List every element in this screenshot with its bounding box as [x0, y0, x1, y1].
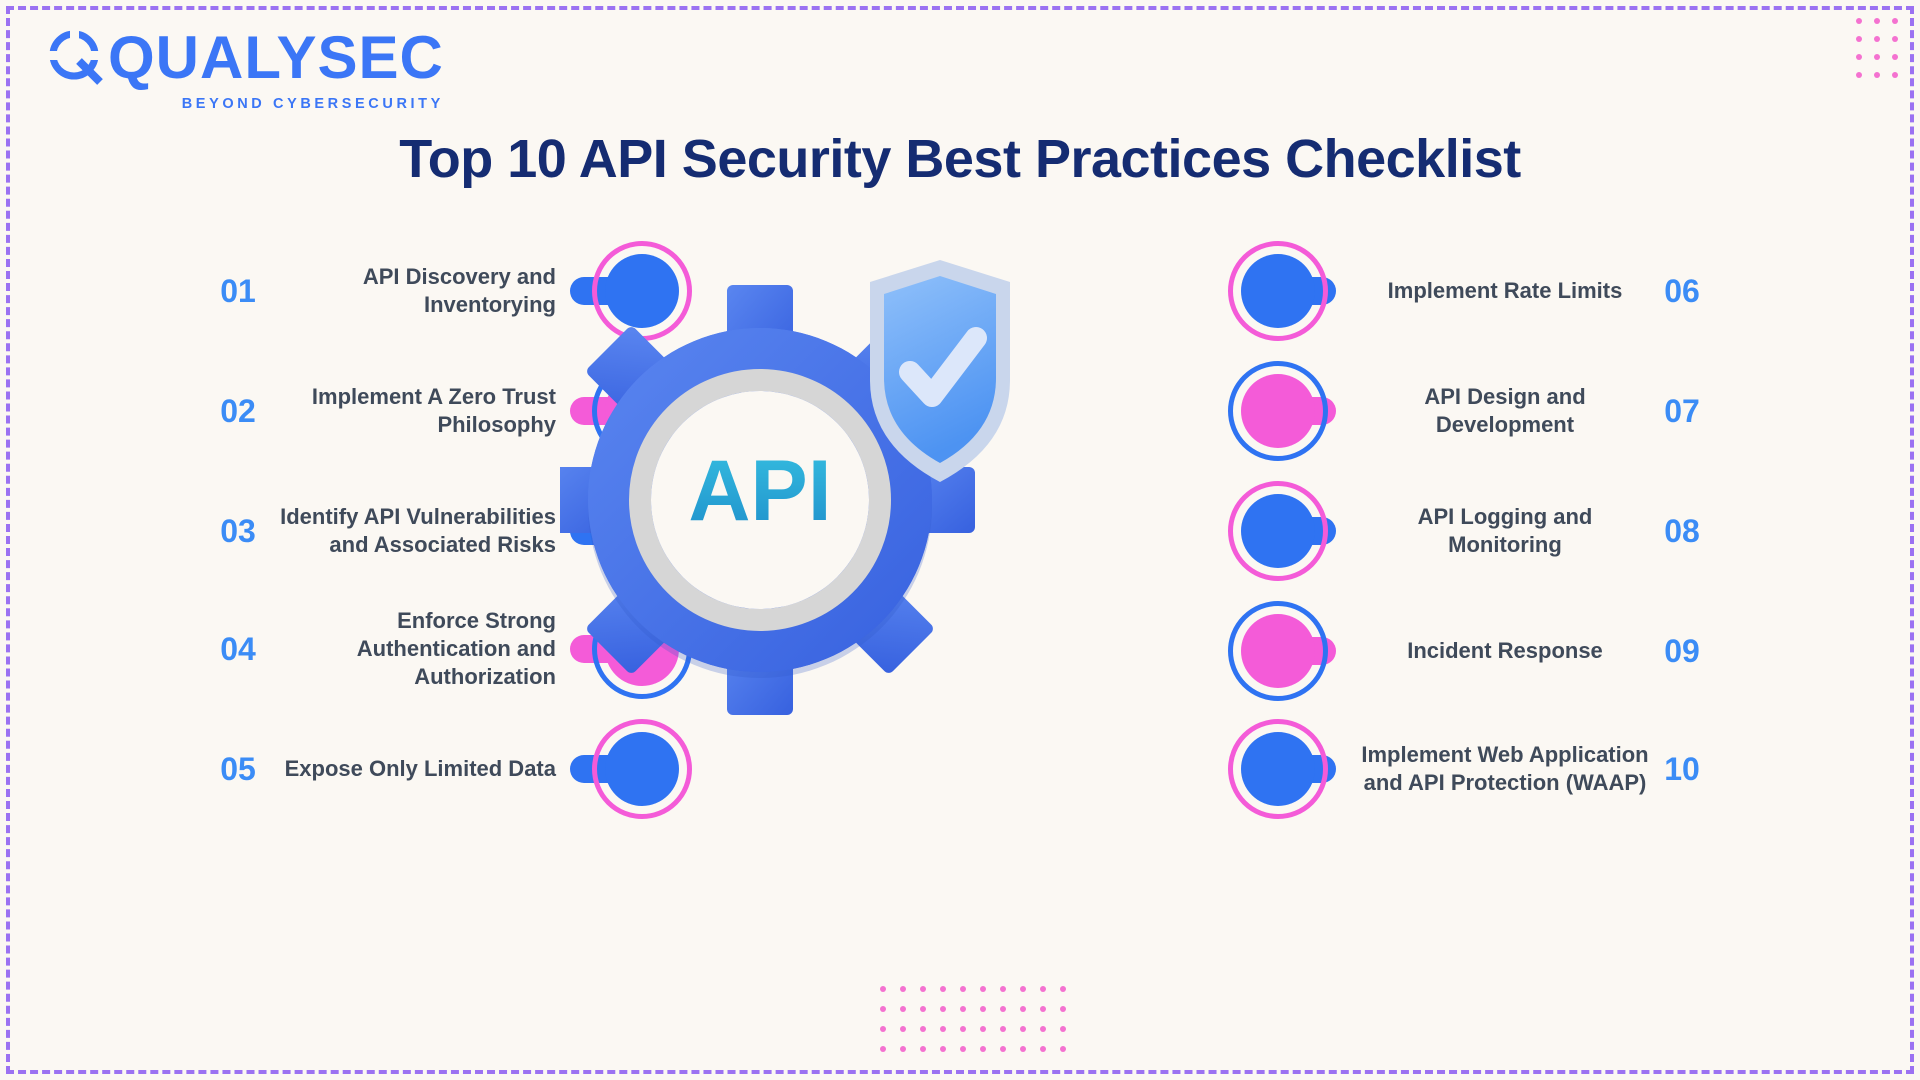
checklist-item-09[interactable]: Incident Response 09 — [1220, 596, 1900, 706]
item-number: 03 — [206, 513, 270, 550]
item-marker-pink — [1220, 596, 1350, 706]
checklist-item-10[interactable]: Implement Web Application and API Protec… — [1220, 714, 1900, 824]
item-label: Incident Response — [1350, 637, 1650, 665]
item-number: 06 — [1650, 273, 1714, 310]
item-label: API Discovery and Inventorying — [270, 263, 570, 319]
item-number: 05 — [206, 751, 270, 788]
gear-shield-illustration: API — [560, 220, 1020, 720]
item-number: 10 — [1650, 751, 1714, 788]
center-graphic: API — [560, 220, 1020, 720]
marker-dot — [1241, 254, 1315, 328]
qualysec-q-mark-icon — [48, 29, 106, 87]
item-number: 02 — [206, 393, 270, 430]
item-number: 08 — [1650, 513, 1714, 550]
infographic-canvas: QUALYSEC BEYOND CYBERSECURITY Top 10 API… — [0, 0, 1920, 1080]
item-marker-blue — [1220, 236, 1350, 346]
marker-dot — [605, 732, 679, 806]
item-label: Expose Only Limited Data — [270, 755, 570, 783]
checklist-item-05[interactable]: 05 Expose Only Limited Data — [20, 714, 700, 824]
item-label: Enforce Strong Authentication and Author… — [270, 607, 570, 691]
item-label: Identify API Vulnerabilities and Associa… — [270, 503, 570, 559]
item-marker-blue — [1220, 476, 1350, 586]
marker-dot — [1241, 614, 1315, 688]
item-label: API Design and Development — [1350, 383, 1650, 439]
item-label: API Logging and Monitoring — [1350, 503, 1650, 559]
item-label: Implement A Zero Trust Philosophy — [270, 383, 570, 439]
item-label: Implement Web Application and API Protec… — [1350, 741, 1650, 797]
brand-logo: QUALYSEC BEYOND CYBERSECURITY — [48, 28, 444, 112]
brand-tagline: BEYOND CYBERSECURITY — [48, 96, 444, 112]
item-number: 07 — [1650, 393, 1714, 430]
checklist-item-07[interactable]: API Design and Development 07 — [1220, 356, 1900, 466]
checklist-item-06[interactable]: Implement Rate Limits 06 — [1220, 236, 1900, 346]
brand-name-text: QUALYSEC — [108, 28, 444, 88]
item-number: 04 — [206, 631, 270, 668]
item-marker-blue — [570, 714, 700, 824]
api-label: API — [688, 443, 831, 539]
item-number: 01 — [206, 273, 270, 310]
item-number: 09 — [1650, 633, 1714, 670]
marker-dot — [1241, 494, 1315, 568]
decorative-dot-grid-top-right — [1856, 18, 1898, 78]
item-marker-blue — [1220, 714, 1350, 824]
item-marker-pink — [1220, 356, 1350, 466]
page-title: Top 10 API Security Best Practices Check… — [0, 128, 1920, 190]
brand-wordmark: QUALYSEC — [48, 28, 444, 88]
marker-dot — [1241, 732, 1315, 806]
item-label: Implement Rate Limits — [1350, 277, 1650, 305]
decorative-dot-grid-bottom — [880, 986, 1066, 1052]
checklist-item-08[interactable]: API Logging and Monitoring 08 — [1220, 476, 1900, 586]
marker-dot — [1241, 374, 1315, 448]
